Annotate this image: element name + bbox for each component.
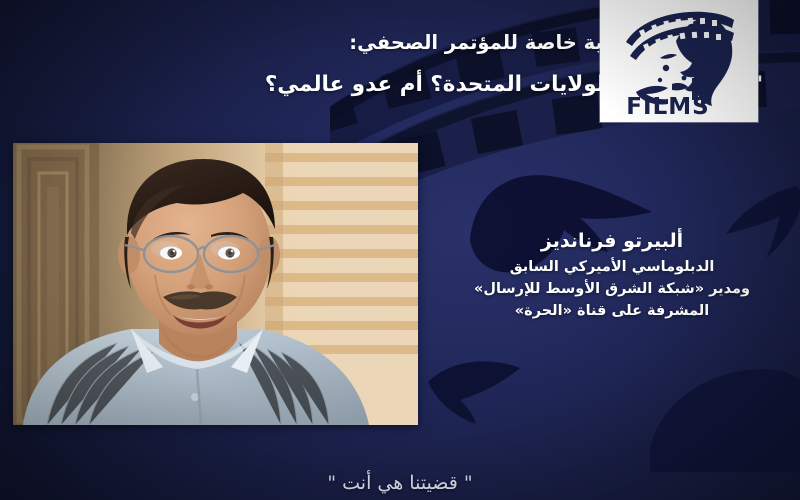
speaker-name: ألبيرتو فرنانديز bbox=[432, 228, 792, 256]
insan-films-logo-icon: FILMS bbox=[600, 0, 758, 122]
speaker-role-line-2: ومدير «شبكة الشرق الأوسط للإرسال» bbox=[432, 278, 792, 300]
slogan-text: " قضيتنا هي أنت " bbox=[327, 472, 472, 494]
abstract-shape-bottom-right bbox=[640, 362, 800, 472]
speaker-role-line-1: الدبلوماسي الأميركي السابق bbox=[432, 256, 792, 278]
logo-wordmark-latin: FILMS bbox=[626, 94, 709, 120]
speaker-role-line-3: المشرفة على قناة «الحرة» bbox=[432, 300, 792, 322]
slogan: " قضيتنا هي أنت " bbox=[0, 472, 800, 494]
poster-canvas: تغطية خاصة للمؤتمر الصحفي: "قطر.. حليف ل… bbox=[0, 0, 800, 500]
speaker-credit: ألبيرتو فرنانديز الدبلوماسي الأميركي الس… bbox=[432, 228, 792, 323]
speaker-portrait bbox=[13, 143, 418, 425]
logo-box: FILMS bbox=[600, 0, 758, 122]
abstract-shape-lower-left bbox=[424, 352, 544, 432]
